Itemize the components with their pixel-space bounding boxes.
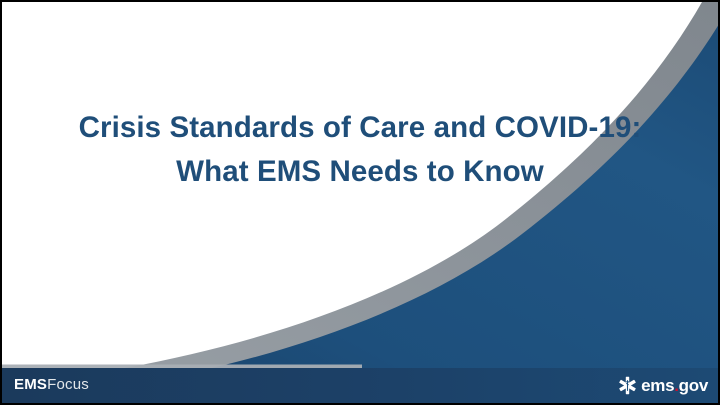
ems-gov-logo[interactable]: ems.gov [618,376,708,395]
logo-text-gov: gov [679,377,708,394]
logo-text-ems: ems [641,377,674,394]
footer-bar [2,368,718,403]
brand-focus-label: Focus [47,376,89,393]
title-line-1: Crisis Standards of Care and COVID-19: [2,106,718,150]
presentation-slide: Crisis Standards of Care and COVID-19: W… [0,0,720,405]
title-line-2: What EMS Needs to Know [2,150,718,194]
swoosh-decoration [2,2,718,403]
brand-ems-label: EMS [14,376,47,393]
page-title: Crisis Standards of Care and COVID-19: W… [2,106,718,194]
star-of-life-icon [618,376,637,395]
ems-focus-brand: EMSFocus [14,377,89,393]
swoosh-blue-band [2,16,718,403]
footer-bar-highlight [2,365,362,369]
swoosh-gray-band [2,2,718,403]
